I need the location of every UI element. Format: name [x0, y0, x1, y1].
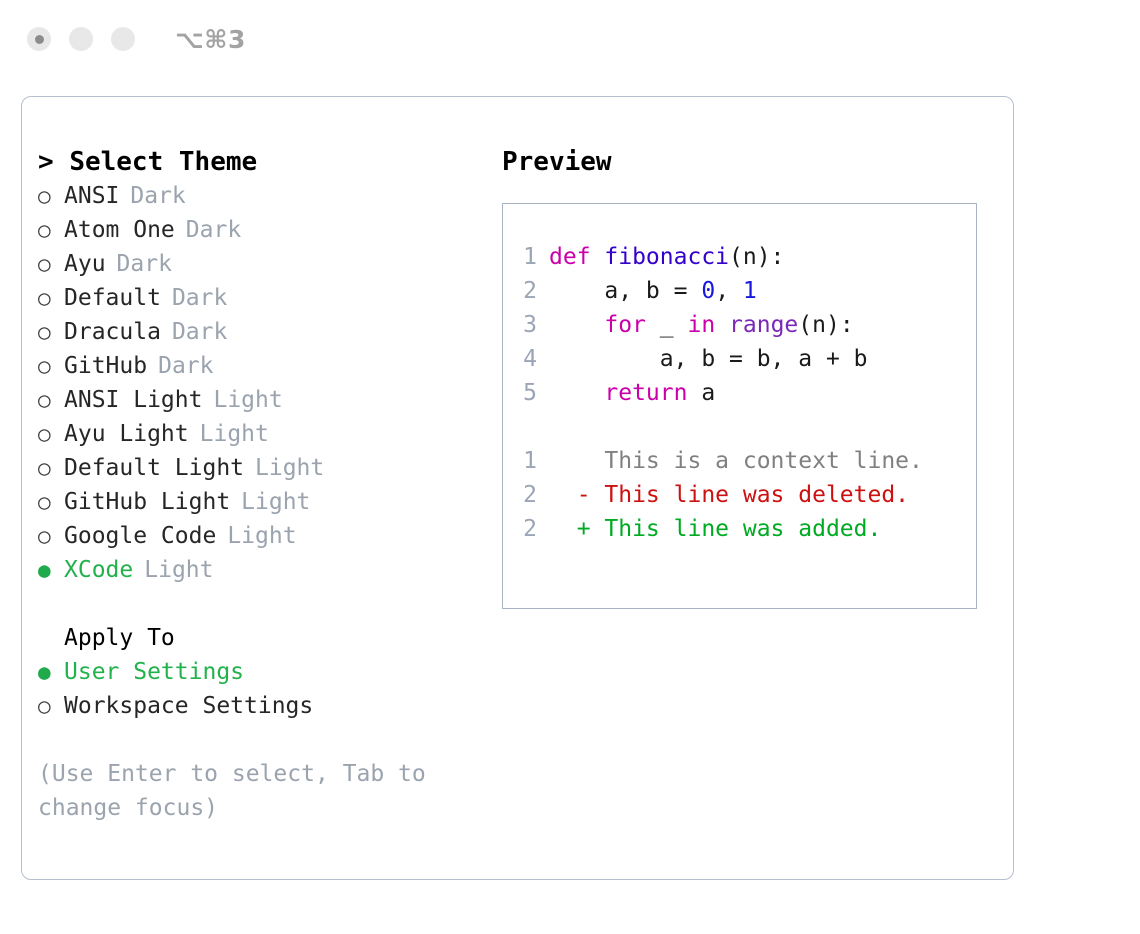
diff-line-text: + This line was added.: [549, 512, 881, 546]
theme-option-label: Ayu Light: [64, 417, 189, 451]
code-token-fn: fibonacci: [604, 244, 729, 270]
theme-list[interactable]: ○ANSIDark○Atom OneDark○AyuDark○DefaultDa…: [38, 179, 500, 587]
preview-column: Preview 1def fibonacci(n):2 a, b = 0, 13…: [500, 97, 1013, 879]
code-line: 1def fibonacci(n):: [503, 240, 976, 274]
apply-to-list[interactable]: ●User Settings○Workspace Settings: [38, 655, 500, 723]
radio-unselected-icon: ○: [38, 281, 64, 315]
radio-unselected-icon: ○: [38, 383, 64, 417]
app-window: ⌥⌘3 > Select Theme ○ANSIDark○Atom OneDar…: [0, 0, 1140, 934]
preview-title: Preview: [502, 145, 1013, 179]
radio-unselected-icon: ○: [38, 213, 64, 247]
theme-option-ayu-light[interactable]: ○Ayu LightLight: [38, 417, 500, 451]
theme-selection-column: > Select Theme ○ANSIDark○Atom OneDark○Ay…: [22, 97, 500, 879]
theme-option-variant: Dark: [119, 179, 185, 213]
keyboard-shortcut-label: ⌥⌘3: [175, 25, 246, 54]
apply-to-option-workspace-settings[interactable]: ○Workspace Settings: [38, 689, 500, 723]
code-token-pl: _: [646, 312, 688, 338]
code-token-pl: ,: [715, 278, 743, 304]
list-spacer: [38, 587, 500, 621]
radio-selected-icon: ●: [38, 553, 64, 587]
line-number: 1: [503, 444, 549, 478]
theme-option-default[interactable]: ○DefaultDark: [38, 281, 500, 315]
diff-line-ctx: 1 This is a context line.: [503, 444, 976, 478]
code-token-pl: (n):: [729, 244, 784, 270]
code-token-pl: (n):: [798, 312, 853, 338]
line-number: 5: [503, 376, 549, 410]
radio-unselected-icon: ○: [38, 315, 64, 349]
theme-option-ansi-light[interactable]: ○ANSI LightLight: [38, 383, 500, 417]
diff-line-del: 2 - This line was deleted.: [503, 478, 976, 512]
apply-to-option-user-settings[interactable]: ●User Settings: [38, 655, 500, 689]
radio-unselected-icon: ○: [38, 689, 64, 723]
theme-option-atom-one[interactable]: ○Atom OneDark: [38, 213, 500, 247]
code-sample: 1def fibonacci(n):2 a, b = 0, 13 for _ i…: [503, 240, 976, 410]
code-diff-separator: [503, 410, 976, 444]
code-line-text: return a: [549, 376, 715, 410]
code-token-kw: for: [604, 312, 646, 338]
radio-unselected-icon: ○: [38, 179, 64, 213]
code-token-bi: range: [729, 312, 798, 338]
theme-option-variant: Light: [216, 519, 296, 553]
theme-option-label: Dracula: [64, 315, 161, 349]
theme-option-label: Ayu: [64, 247, 106, 281]
theme-option-default-light[interactable]: ○Default LightLight: [38, 451, 500, 485]
line-number: 2: [503, 274, 549, 308]
radio-unselected-icon: ○: [38, 417, 64, 451]
theme-option-xcode[interactable]: ●XCodeLight: [38, 553, 500, 587]
radio-unselected-icon: ○: [38, 451, 64, 485]
diff-line-text: This is a context line.: [549, 444, 923, 478]
code-token-pl: a, b =: [549, 278, 701, 304]
code-token-pl: [549, 380, 604, 406]
theme-option-label: GitHub Light: [64, 485, 230, 519]
code-line: 2 a, b = 0, 1: [503, 274, 976, 308]
window-dot-maximize[interactable]: [111, 27, 135, 51]
line-number: 4: [503, 342, 549, 376]
apply-to-option-label: User Settings: [64, 655, 244, 689]
theme-option-variant: Light: [230, 485, 310, 519]
window-controls: [27, 27, 135, 51]
apply-to-option-label: Workspace Settings: [64, 689, 313, 723]
code-token-pl: a: [687, 380, 715, 406]
theme-option-variant: Dark: [175, 213, 241, 247]
theme-option-label: ANSI: [64, 179, 119, 213]
page-title: > Select Theme: [38, 145, 500, 179]
window-dot-minimize[interactable]: [69, 27, 93, 51]
page-title-text: Select Theme: [69, 147, 257, 177]
code-token-kw: return: [604, 380, 687, 406]
code-token-pl: a, b = b, a + b: [549, 346, 868, 372]
theme-option-label: ANSI Light: [64, 383, 202, 417]
radio-unselected-icon: ○: [38, 485, 64, 519]
line-number: 2: [503, 478, 549, 512]
diff-sample: 1 This is a context line.2 - This line w…: [503, 444, 976, 546]
code-token-kw: def: [549, 244, 604, 270]
hint-spacer: [38, 723, 500, 757]
theme-option-dracula[interactable]: ○DraculaDark: [38, 315, 500, 349]
radio-unselected-icon: ○: [38, 519, 64, 553]
line-number: 2: [503, 512, 549, 546]
theme-option-variant: Light: [202, 383, 282, 417]
theme-option-variant: Dark: [161, 281, 227, 315]
radio-unselected-icon: ○: [38, 247, 64, 281]
theme-option-github-light[interactable]: ○GitHub LightLight: [38, 485, 500, 519]
preview-box: 1def fibonacci(n):2 a, b = 0, 13 for _ i…: [502, 203, 977, 609]
theme-option-label: Google Code: [64, 519, 216, 553]
code-token-pl: [549, 312, 604, 338]
theme-option-github[interactable]: ○GitHubDark: [38, 349, 500, 383]
radio-selected-icon: ●: [38, 655, 64, 689]
main-panel: > Select Theme ○ANSIDark○Atom OneDark○Ay…: [21, 96, 1014, 880]
code-line-text: a, b = b, a + b: [549, 342, 868, 376]
theme-option-variant: Light: [244, 451, 324, 485]
theme-option-ansi[interactable]: ○ANSIDark: [38, 179, 500, 213]
code-line: 3 for _ in range(n):: [503, 308, 976, 342]
code-token-num: 0: [701, 278, 715, 304]
theme-option-variant: Dark: [161, 315, 227, 349]
theme-option-variant: Dark: [106, 247, 172, 281]
title-bar: ⌥⌘3: [0, 0, 1140, 78]
theme-option-google-code[interactable]: ○Google CodeLight: [38, 519, 500, 553]
code-line-text: a, b = 0, 1: [549, 274, 757, 308]
theme-option-ayu[interactable]: ○AyuDark: [38, 247, 500, 281]
window-dot-pip-icon: [35, 35, 44, 44]
keyboard-hint: (Use Enter to select, Tab to change focu…: [38, 757, 452, 825]
window-dot-close[interactable]: [27, 27, 51, 51]
diff-line-add: 2 + This line was added.: [503, 512, 976, 546]
code-token-pl: [715, 312, 729, 338]
theme-option-label: GitHub: [64, 349, 147, 383]
code-line-text: def fibonacci(n):: [549, 240, 784, 274]
code-line: 4 a, b = b, a + b: [503, 342, 976, 376]
prompt-caret-icon: >: [38, 147, 54, 177]
code-line: 5 return a: [503, 376, 976, 410]
radio-unselected-icon: ○: [38, 349, 64, 383]
code-token-kw: in: [687, 312, 715, 338]
diff-line-text: - This line was deleted.: [549, 478, 909, 512]
theme-option-label: Atom One: [64, 213, 175, 247]
theme-option-variant: Light: [189, 417, 269, 451]
theme-option-variant: Dark: [147, 349, 213, 383]
theme-option-variant: Light: [133, 553, 213, 587]
line-number: 3: [503, 308, 549, 342]
theme-option-label: Default Light: [64, 451, 244, 485]
code-line-text: for _ in range(n):: [549, 308, 854, 342]
theme-option-label: XCode: [64, 553, 133, 587]
line-number: 1: [503, 240, 549, 274]
apply-to-heading: Apply To: [38, 621, 500, 655]
theme-option-label: Default: [64, 281, 161, 315]
code-token-num: 1: [743, 278, 757, 304]
